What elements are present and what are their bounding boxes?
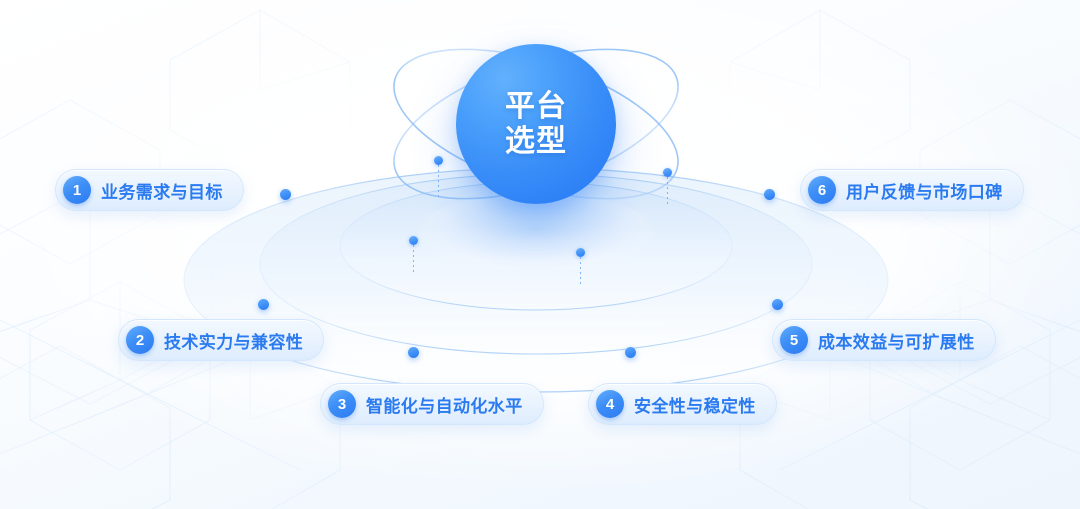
item-pill-2[interactable]: 2 技术实力与兼容性 xyxy=(118,319,324,361)
pin-tail xyxy=(413,245,414,275)
central-label-line-1: 平台 xyxy=(505,89,567,124)
item-pill-3[interactable]: 3 智能化与自动化水平 xyxy=(320,383,544,425)
pin-head-icon xyxy=(576,248,585,257)
item-number-badge-2: 2 xyxy=(126,326,154,354)
hub-scene: 平台 选型 1 业务需求与目标 xyxy=(0,0,1080,509)
item-pill-4[interactable]: 4 安全性与稳定性 xyxy=(588,383,777,425)
central-label-line-2: 选型 xyxy=(505,124,567,159)
item-number-badge-4: 4 xyxy=(596,390,624,418)
item-label-5: 成本效益与可扩展性 xyxy=(818,328,975,353)
pin-marker-2 xyxy=(663,168,672,207)
item-pill-6[interactable]: 6 用户反馈与市场口碑 xyxy=(800,169,1024,211)
ring-dot-6 xyxy=(764,189,775,200)
item-label-2: 技术实力与兼容性 xyxy=(164,328,303,353)
item-pill-1[interactable]: 1 业务需求与目标 xyxy=(55,169,244,211)
item-number-badge-1: 1 xyxy=(63,176,91,204)
item-label-6: 用户反馈与市场口碑 xyxy=(846,178,1003,203)
item-number-badge-6: 6 xyxy=(808,176,836,204)
central-sphere-label: 平台 选型 xyxy=(505,89,567,160)
ring-dot-3 xyxy=(408,347,419,358)
infographic-canvas: 平台 选型 1 业务需求与目标 xyxy=(0,0,1080,509)
ring-dot-1 xyxy=(280,189,291,200)
ring-dot-4 xyxy=(625,347,636,358)
item-label-3: 智能化与自动化水平 xyxy=(366,392,523,417)
item-label-4: 安全性与稳定性 xyxy=(634,392,756,417)
item-pill-5[interactable]: 5 成本效益与可扩展性 xyxy=(772,319,996,361)
pin-tail xyxy=(667,177,668,207)
item-number-badge-5: 5 xyxy=(780,326,808,354)
central-sphere: 平台 选型 xyxy=(456,44,616,204)
item-number-badge-3: 3 xyxy=(328,390,356,418)
pin-tail xyxy=(438,165,439,197)
pin-marker-1 xyxy=(434,156,443,197)
pin-head-icon xyxy=(409,236,418,245)
pin-tail xyxy=(580,257,581,287)
pin-marker-4 xyxy=(576,248,585,287)
pin-head-icon xyxy=(434,156,443,165)
item-label-1: 业务需求与目标 xyxy=(101,178,223,203)
ring-dot-2 xyxy=(258,299,269,310)
pin-head-icon xyxy=(663,168,672,177)
pin-marker-3 xyxy=(409,236,418,275)
ring-dot-5 xyxy=(772,299,783,310)
